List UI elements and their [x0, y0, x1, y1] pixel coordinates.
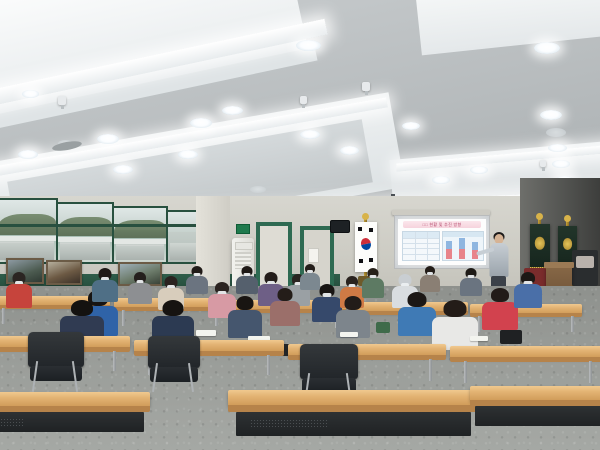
table-modesty-panel — [475, 406, 600, 426]
table-modesty-panel — [236, 412, 471, 436]
person-hair — [278, 288, 293, 301]
person-body — [236, 276, 258, 294]
person-hair — [444, 300, 467, 317]
person-body — [482, 302, 518, 330]
attendee-back-e — [460, 268, 482, 296]
table-top — [228, 390, 478, 406]
lecture-room-photo: □□ 현황 및 추진 방향 — [0, 0, 600, 450]
person-body — [186, 276, 208, 294]
attendee-pattern-coat — [432, 300, 478, 350]
person-hair — [491, 288, 509, 302]
attendee-grey-a — [128, 272, 152, 304]
bag-green — [376, 322, 390, 333]
stacking-chair — [28, 332, 84, 392]
table-top — [470, 386, 600, 401]
person-body — [514, 284, 542, 308]
attendee-blue-right — [514, 272, 542, 308]
attendee-back-c — [300, 264, 320, 290]
person-body — [460, 278, 482, 296]
person-body — [228, 310, 262, 338]
training-table — [0, 392, 150, 442]
table-top — [0, 392, 150, 407]
person-hair — [237, 296, 254, 310]
person-hair — [345, 296, 362, 310]
person-body — [92, 280, 118, 302]
stacking-chair — [148, 336, 200, 392]
person-hair — [71, 300, 93, 316]
person-body — [362, 278, 384, 298]
paper-c — [340, 332, 358, 337]
attendee-back-a — [186, 266, 208, 294]
person-hair — [408, 292, 427, 307]
person-body — [270, 301, 300, 326]
table-leg — [429, 359, 432, 381]
attendee-plaid-blue — [398, 292, 436, 336]
person-body — [6, 284, 32, 308]
person-body — [398, 307, 436, 336]
training-table — [450, 346, 600, 382]
person-body — [128, 283, 152, 304]
table-edge — [228, 405, 478, 412]
person-hair — [163, 300, 184, 316]
table-leg — [267, 355, 270, 375]
attendee-back-f — [270, 288, 300, 326]
attendee-back-d — [420, 266, 440, 292]
attendee-red-left — [6, 272, 32, 308]
table-leg — [113, 351, 116, 371]
table-modesty-panel — [0, 412, 144, 432]
person-body — [300, 273, 320, 290]
table-leg — [589, 361, 592, 383]
bag-black — [500, 330, 522, 344]
modesty-perforation — [250, 419, 330, 430]
attendee-red-right — [482, 288, 518, 330]
attendee-green-right — [362, 268, 384, 298]
table-edge — [450, 357, 600, 362]
modesty-perforation — [0, 418, 23, 427]
person-body — [420, 275, 440, 292]
attendee-teal — [92, 268, 118, 302]
attendee-back-b — [236, 266, 258, 294]
table-leg — [464, 361, 467, 383]
attendee-back-g — [228, 296, 262, 338]
training-table — [228, 390, 478, 446]
training-table — [470, 386, 600, 436]
paper-d — [470, 336, 488, 341]
